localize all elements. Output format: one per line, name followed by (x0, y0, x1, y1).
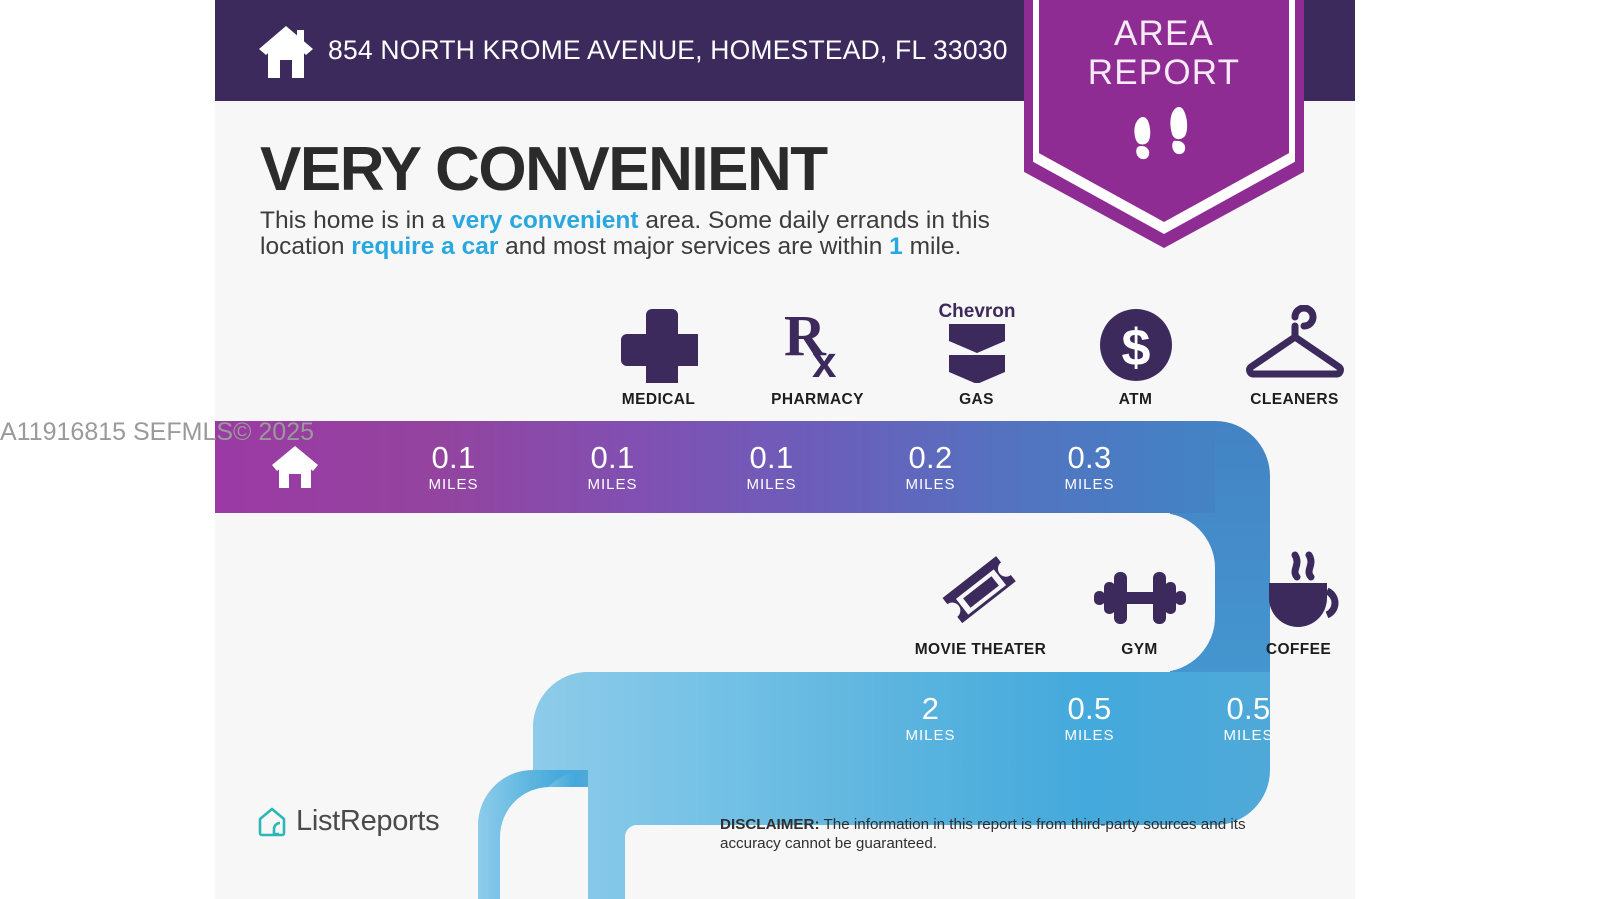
summary-part-4: mile. (903, 233, 962, 260)
poi-coffee: COFFEE (1219, 547, 1355, 659)
dumbbell-icon (1060, 547, 1219, 633)
poi-label: MOVIE THEATER (901, 641, 1060, 659)
medical-cross-icon (579, 297, 738, 383)
poi-movie-theater: MOVIE THEATER (901, 547, 1060, 659)
distance-value: 0.3 (1068, 442, 1112, 474)
distance-cell: 0.2 MILES (851, 421, 1010, 513)
footprints-icon (1128, 104, 1200, 166)
poi-label: MEDICAL (579, 391, 738, 409)
svg-text:Chevron: Chevron (938, 301, 1015, 322)
summary-highlight-2: require a car (351, 233, 498, 260)
house-icon (257, 22, 315, 80)
distance-cell: 0.1 MILES (533, 421, 692, 513)
distance-unit: MILES (428, 476, 478, 493)
area-report-card: 854 NORTH KROME AVENUE, HOMESTEAD, FL 33… (215, 0, 1355, 899)
distance-unit: MILES (746, 476, 796, 493)
rx-icon: R x (738, 297, 897, 383)
poi-cleaners: CLEANERS (1215, 297, 1355, 409)
distance-value: 0.5 (1227, 693, 1271, 725)
summary-part-3: and most major services are within (498, 233, 889, 260)
distance-cell: 0.1 MILES (374, 421, 533, 513)
distance-value: 0.5 (1068, 693, 1112, 725)
hanger-cleaners-icon (1215, 297, 1355, 383)
distance-unit: MILES (587, 476, 637, 493)
logo-text: ListReports (296, 805, 439, 838)
poi-row-top: MEDICAL R x PHARMACY Chevron (579, 297, 1355, 409)
poi-pharmacy: R x PHARMACY (738, 297, 897, 409)
distance-spacer (533, 672, 692, 764)
badge-line-2: REPORT (1024, 53, 1304, 92)
distance-cell: 0.3 MILES (1010, 421, 1169, 513)
poi-label: COFFEE (1219, 641, 1355, 659)
distance-unit: MILES (905, 727, 955, 744)
listreports-house-tag-icon (257, 806, 287, 838)
poi-gas: Chevron GAS (897, 297, 1056, 409)
poi-label: ATM (1056, 391, 1215, 409)
distance-value: 0.2 (909, 442, 953, 474)
area-report-badge: AREA REPORT (1024, 0, 1304, 248)
distance-value: 0.1 (750, 442, 794, 474)
poi-label: CLEANERS (1215, 391, 1355, 409)
distance-unit: MILES (1064, 476, 1114, 493)
mls-watermark: A11916815 SEFMLS© 2025 (0, 418, 320, 447)
summary-text: This home is in a very convenient area. … (260, 208, 1030, 260)
distance-spacer (692, 672, 851, 764)
summary-highlight-1: very convenient (452, 207, 639, 234)
disclaimer: DISCLAIMER: The information in this repo… (720, 815, 1310, 853)
summary-part-1: This home is in a (260, 207, 452, 234)
poi-label: GAS (897, 391, 1056, 409)
summary-highlight-3: 1 (889, 233, 903, 260)
poi-label: PHARMACY (738, 391, 897, 409)
disclaimer-label: DISCLAIMER: (720, 816, 820, 833)
poi-atm: $ ATM (1056, 297, 1215, 409)
distance-cell: 2 MILES (851, 672, 1010, 764)
svg-text:$: $ (1121, 319, 1150, 377)
distance-value: 2 (922, 693, 940, 725)
poi-label: GYM (1060, 641, 1219, 659)
house-icon (270, 444, 320, 490)
distance-cell: 0.5 MILES (1169, 672, 1328, 764)
distance-unit: MILES (1064, 727, 1114, 744)
distance-cell: 0.1 MILES (692, 421, 851, 513)
distance-row-bottom: 2 MILES 0.5 MILES 0.5 MILES (533, 672, 1328, 764)
distance-value: 0.1 (432, 442, 476, 474)
chevron-gas-icon: Chevron (897, 297, 1056, 383)
poi-gym: GYM (1060, 547, 1219, 659)
poi-medical: MEDICAL (579, 297, 738, 409)
badge-line-1: AREA (1024, 14, 1304, 53)
distance-unit: MILES (905, 476, 955, 493)
listreports-logo: ListReports (257, 805, 439, 838)
distance-value: 0.1 (591, 442, 635, 474)
movie-ticket-icon (901, 547, 1060, 633)
poi-row-bottom: MOVIE THEATER (901, 547, 1355, 659)
page-title: VERY CONVENIENT (260, 134, 827, 205)
distance-unit: MILES (1223, 727, 1273, 744)
dollar-atm-icon: $ (1056, 297, 1215, 383)
coffee-cup-icon (1219, 547, 1355, 633)
infographic-root: 854 NORTH KROME AVENUE, HOMESTEAD, FL 33… (0, 0, 1600, 899)
distance-cell: 0.5 MILES (1010, 672, 1169, 764)
badge-title: AREA REPORT (1024, 14, 1304, 92)
svg-text:x: x (812, 338, 837, 383)
property-address: 854 NORTH KROME AVENUE, HOMESTEAD, FL 33… (328, 0, 1008, 101)
distance-row-top: 0.1 MILES 0.1 MILES 0.1 MILES 0.2 MILES … (215, 421, 1169, 513)
